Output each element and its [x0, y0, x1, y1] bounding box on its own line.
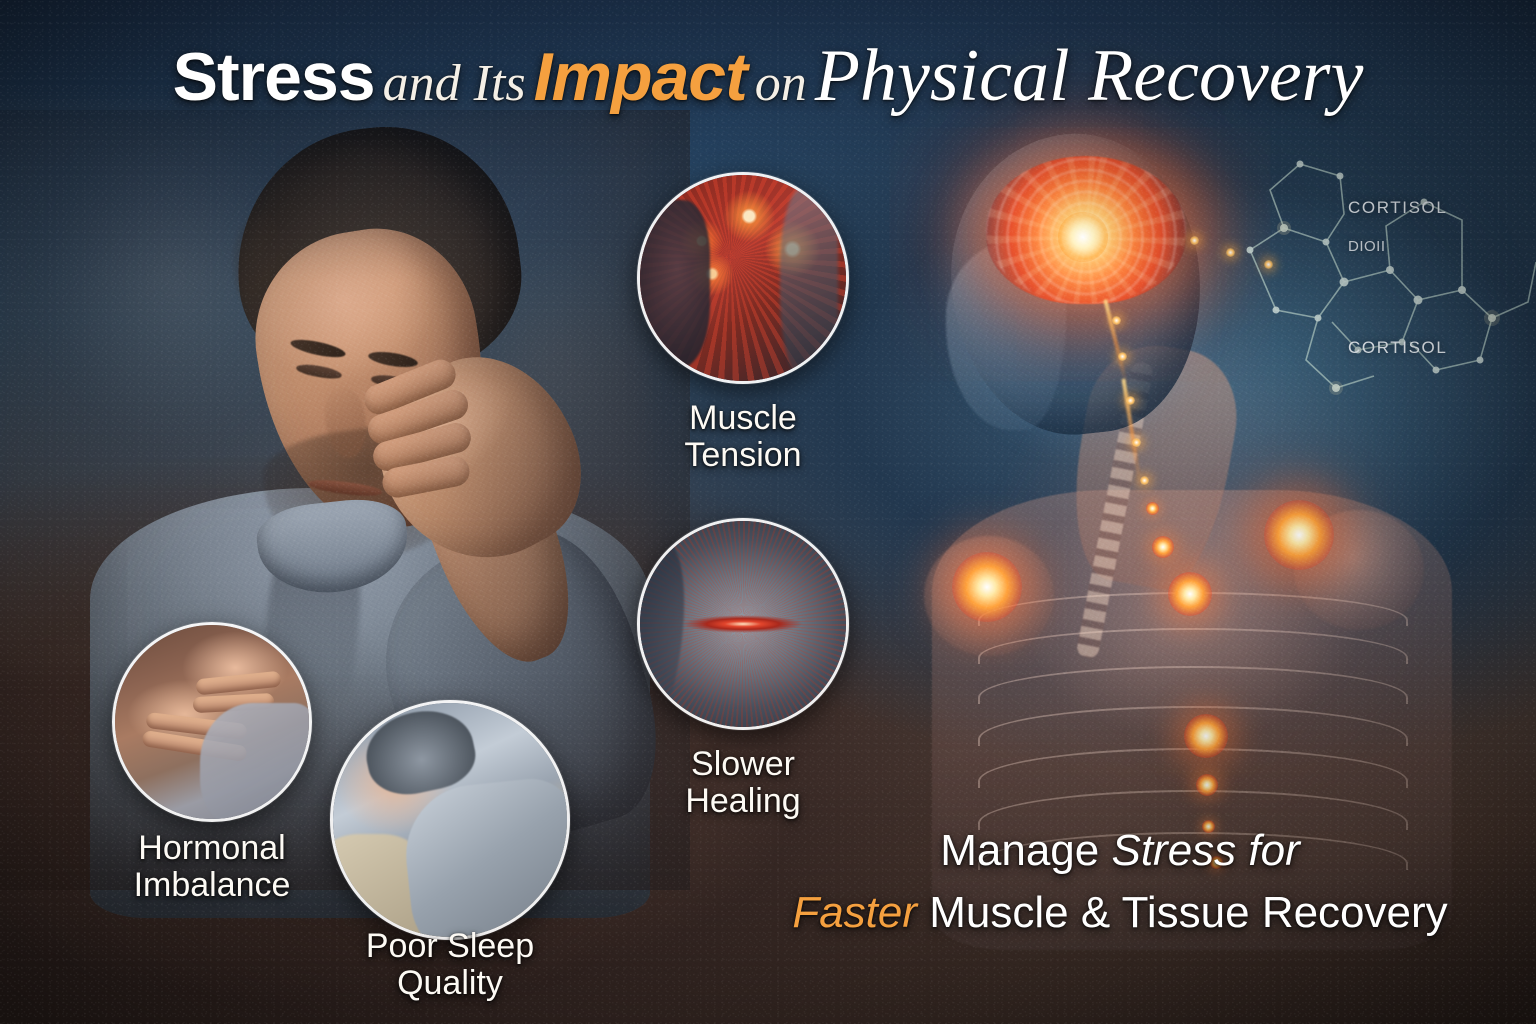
callout-muscle-tension[interactable]: Muscle Tension	[637, 172, 849, 384]
page-title: Stressand ItsImpactonPhysical Recovery	[0, 34, 1536, 119]
title-word-physical-recovery: Physical Recovery	[815, 35, 1364, 117]
callout-poor-sleep-quality[interactable]: Poor Sleep Quality	[330, 700, 570, 940]
callout-hormonal-imbalance[interactable]: Hormonal Imbalance	[112, 622, 312, 822]
closing-message: Manage Stress for Faster Muscle & Tissue…	[770, 826, 1470, 938]
message-muscle-tissue-recovery: Muscle & Tissue Recovery	[917, 888, 1448, 937]
muscle-tension-caption: Muscle Tension	[637, 400, 849, 473]
infographic-canvas: CORTISOL DIOII CORTISOL Stressand ItsImp…	[0, 0, 1536, 1024]
message-line-2: Faster Muscle & Tissue Recovery	[770, 888, 1470, 938]
message-stress-for: Stress for	[1111, 826, 1299, 875]
title-word-stress: Stress	[173, 39, 375, 115]
sleeping-man-art	[333, 703, 567, 937]
slower-healing-caption: Slower Healing	[637, 746, 849, 819]
slower-healing-image[interactable]	[637, 518, 849, 730]
poor-sleep-image[interactable]	[330, 700, 570, 940]
callout-slower-healing[interactable]: Slower Healing	[637, 518, 849, 730]
message-faster: Faster	[792, 888, 917, 937]
message-manage: Manage	[940, 826, 1111, 875]
hormonal-imbalance-image[interactable]	[112, 622, 312, 822]
poor-sleep-caption: Poor Sleep Quality	[330, 928, 570, 1001]
title-word-impact: Impact	[534, 39, 747, 115]
hands-abdomen-art	[115, 625, 309, 819]
message-line-1: Manage Stress for	[770, 826, 1470, 876]
title-word-on: on	[755, 55, 807, 112]
wound-tissue-art	[640, 521, 846, 727]
title-word-and-its: and Its	[383, 55, 526, 112]
muscle-anatomy-art	[640, 175, 846, 381]
hormonal-imbalance-caption: Hormonal Imbalance	[112, 830, 312, 903]
muscle-tension-image[interactable]	[637, 172, 849, 384]
